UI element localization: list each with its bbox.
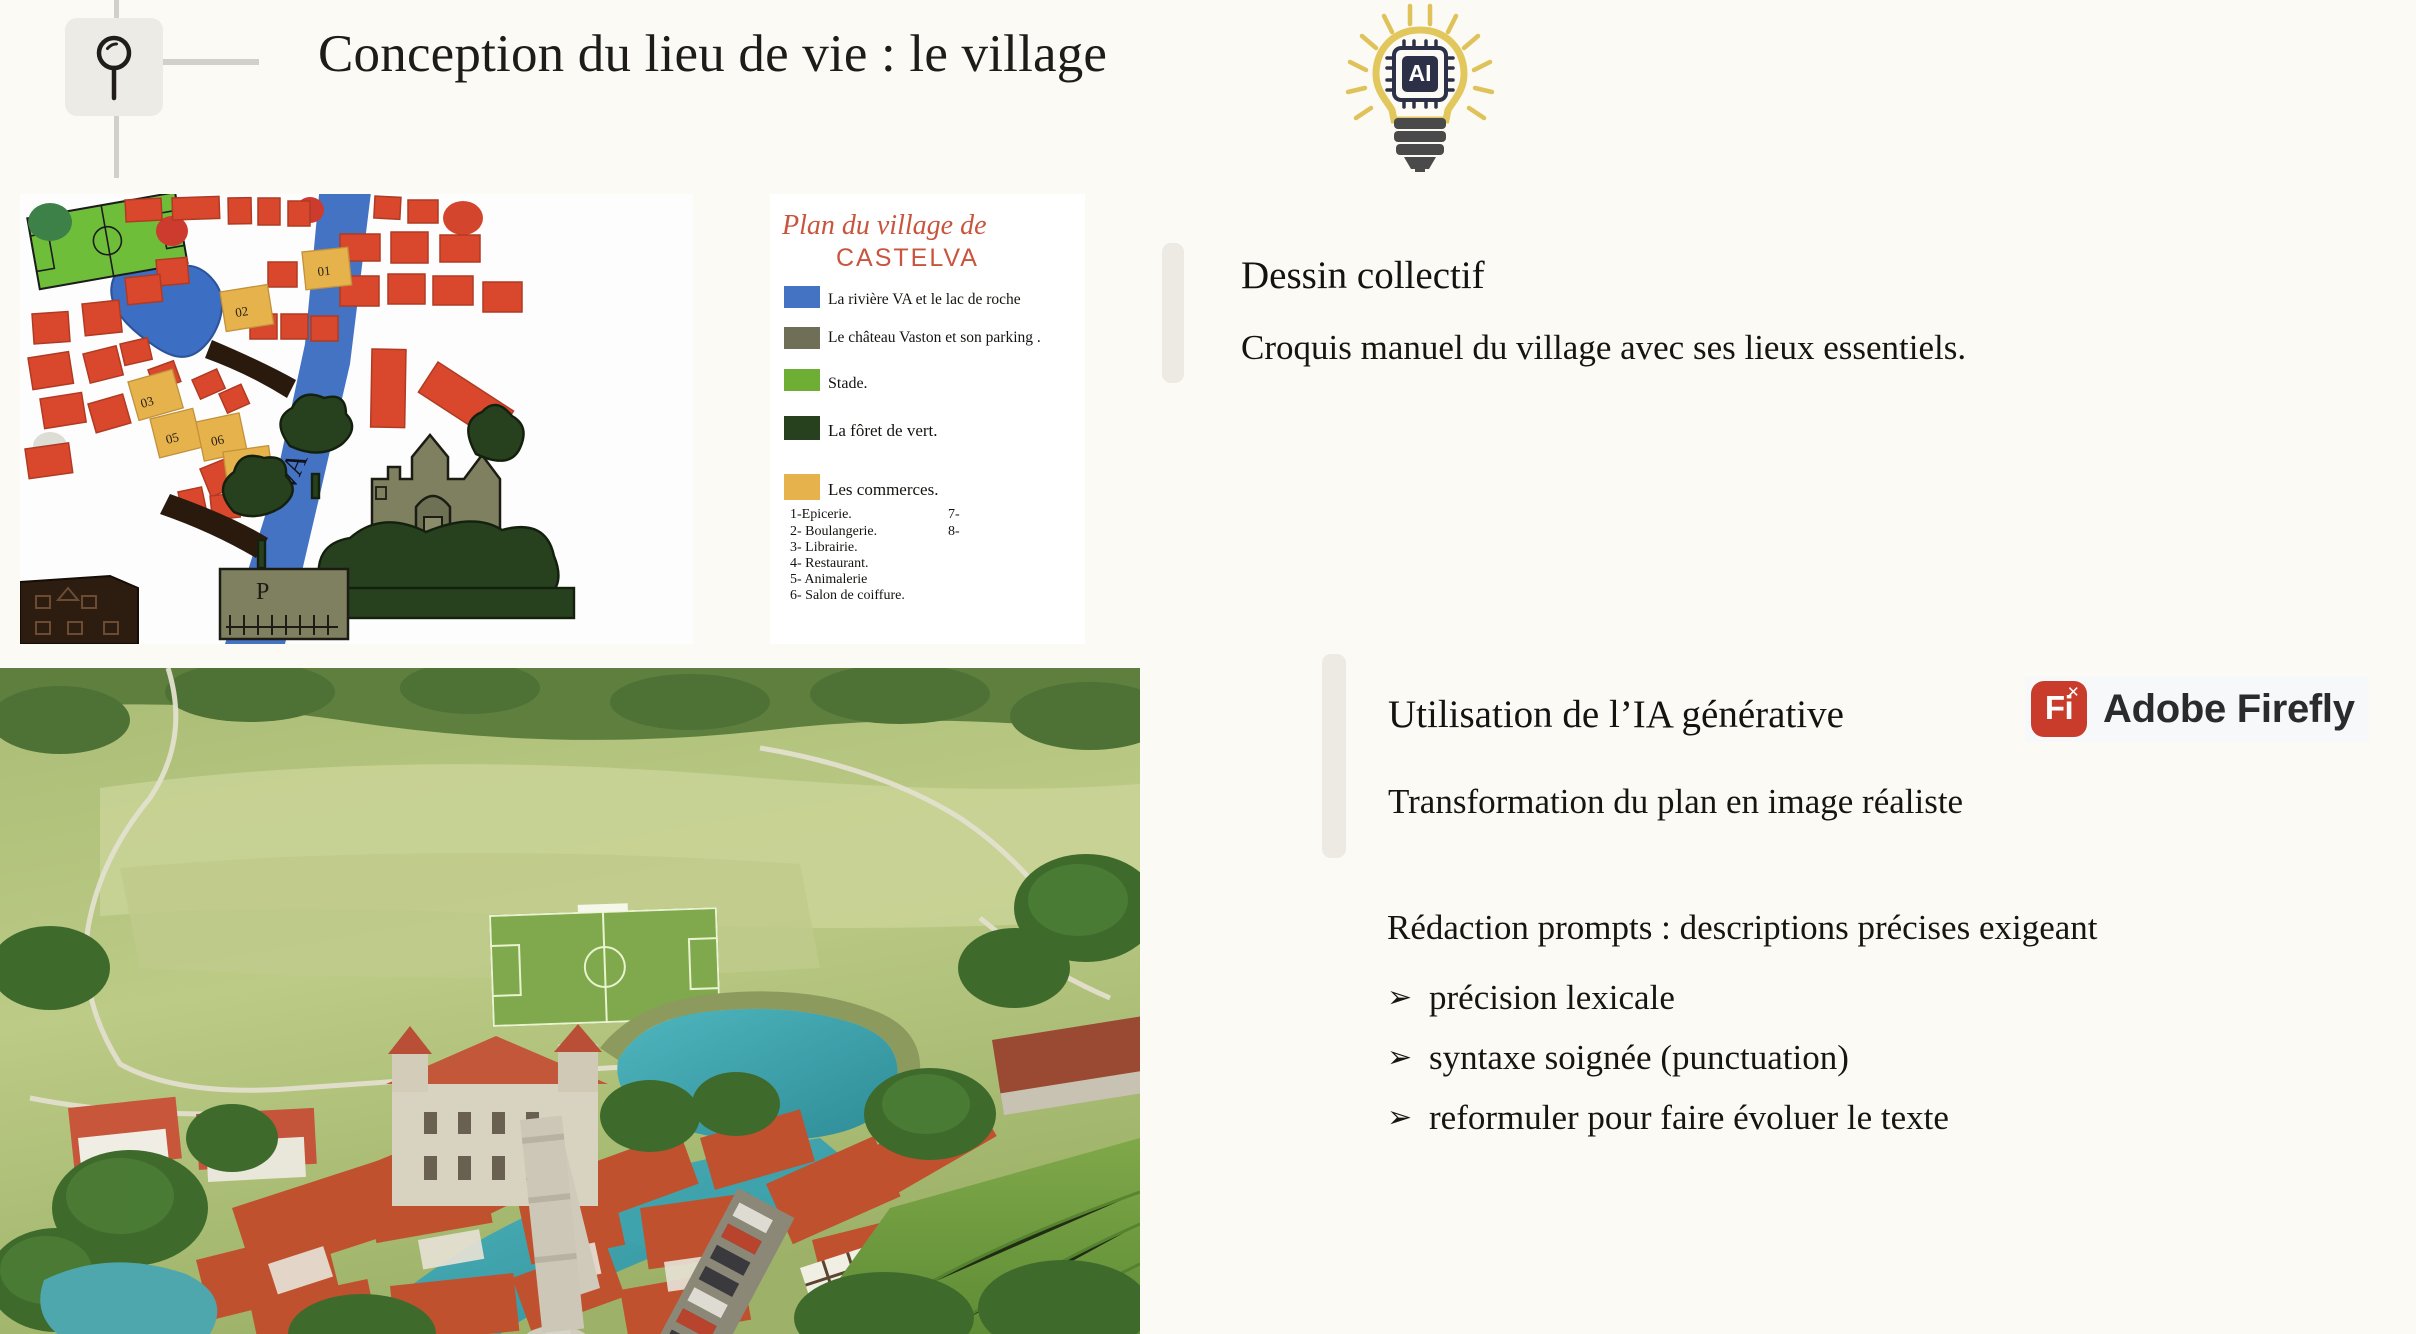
arrow-bullet-icon: ➢	[1387, 968, 1413, 1028]
header-connector-dash	[163, 59, 259, 65]
adobe-firefly-badge: Fi ✕ Adobe Firefly	[2025, 676, 2369, 742]
parking-label: P	[256, 579, 269, 605]
village-plan-legend-image: Plan du village de CASTELVA La rivière V…	[770, 194, 1085, 644]
commerce-item-7: 8-	[948, 524, 960, 539]
legend-item-label-3: La fôret de vert.	[828, 421, 938, 440]
ai-chip-label: AI	[1409, 60, 1432, 86]
legend-item-label-4: Les commerces.	[828, 480, 938, 499]
body-ia-generative: Transformation du plan en image réaliste	[1388, 782, 1963, 822]
heading-dessin-collectif: Dessin collectif	[1241, 253, 1485, 298]
aerial-village-photo	[0, 668, 1140, 1334]
list-item: ➢ précision lexicale	[1387, 968, 2347, 1028]
firefly-product-name: Adobe Firefly	[2103, 687, 2355, 732]
commerce-item-4: 5- Animalerie	[790, 572, 867, 587]
list-item: ➢ syntaxe soignée (punctuation)	[1387, 1028, 2347, 1088]
legend-item-label-1: Le château Vaston et son parking .	[828, 329, 1041, 346]
list-item-label: précision lexicale	[1429, 968, 1675, 1028]
legend-item-label-0: La rivière VA et le lac de roche	[828, 291, 1021, 308]
commerce-item-2: 3- Librairie.	[790, 540, 858, 555]
svg-text:01: 01	[317, 263, 331, 279]
body-dessin-collectif: Croquis manuel du village avec ses lieux…	[1241, 328, 1966, 368]
legend-title-line1: Plan du village de	[781, 210, 987, 241]
firefly-logo-icon: Fi ✕	[2031, 681, 2087, 737]
location-pin-icon	[65, 18, 163, 116]
accent-bar-dessin	[1162, 243, 1184, 383]
commerce-item-5: 6- Salon de coiffure.	[790, 588, 905, 603]
commerce-item-6: 7-	[948, 507, 960, 522]
svg-text:02: 02	[234, 303, 249, 320]
commerce-item-0: 1-Epicerie.	[790, 507, 852, 522]
list-item-label: reformuler pour faire évoluer le texte	[1429, 1088, 1949, 1148]
commerce-item-3: 4- Restaurant.	[790, 556, 869, 571]
prompts-intro-text: Rédaction prompts : descriptions précise…	[1387, 908, 2098, 948]
slide-root: Conception du lieu de vie : le village	[0, 0, 2416, 1334]
prompt-criteria-list: ➢ précision lexicale ➢ syntaxe soignée (…	[1387, 968, 2347, 1148]
ai-lightbulb-icon: AI	[1332, 0, 1508, 172]
arrow-bullet-icon: ➢	[1387, 1028, 1413, 1088]
arrow-bullet-icon: ➢	[1387, 1088, 1413, 1148]
firefly-sparkle-icon: ✕	[2067, 687, 2078, 698]
commerce-item-1: 2- Boulangerie.	[790, 524, 877, 539]
accent-bar-ia-generative	[1322, 654, 1346, 858]
legend-title-line2: CASTELVA	[836, 244, 979, 272]
page-title: Conception du lieu de vie : le village	[318, 24, 1107, 84]
ai-chip-icon: AI	[1387, 41, 1453, 107]
village-plan-map-image: VA	[20, 194, 693, 644]
heading-ia-generative: Utilisation de l’IA générative	[1388, 692, 1844, 737]
list-item: ➢ reformuler pour faire évoluer le texte	[1387, 1088, 2347, 1148]
list-item-label: syntaxe soignée (punctuation)	[1429, 1028, 1849, 1088]
legend-item-label-2: Stade.	[828, 375, 868, 392]
